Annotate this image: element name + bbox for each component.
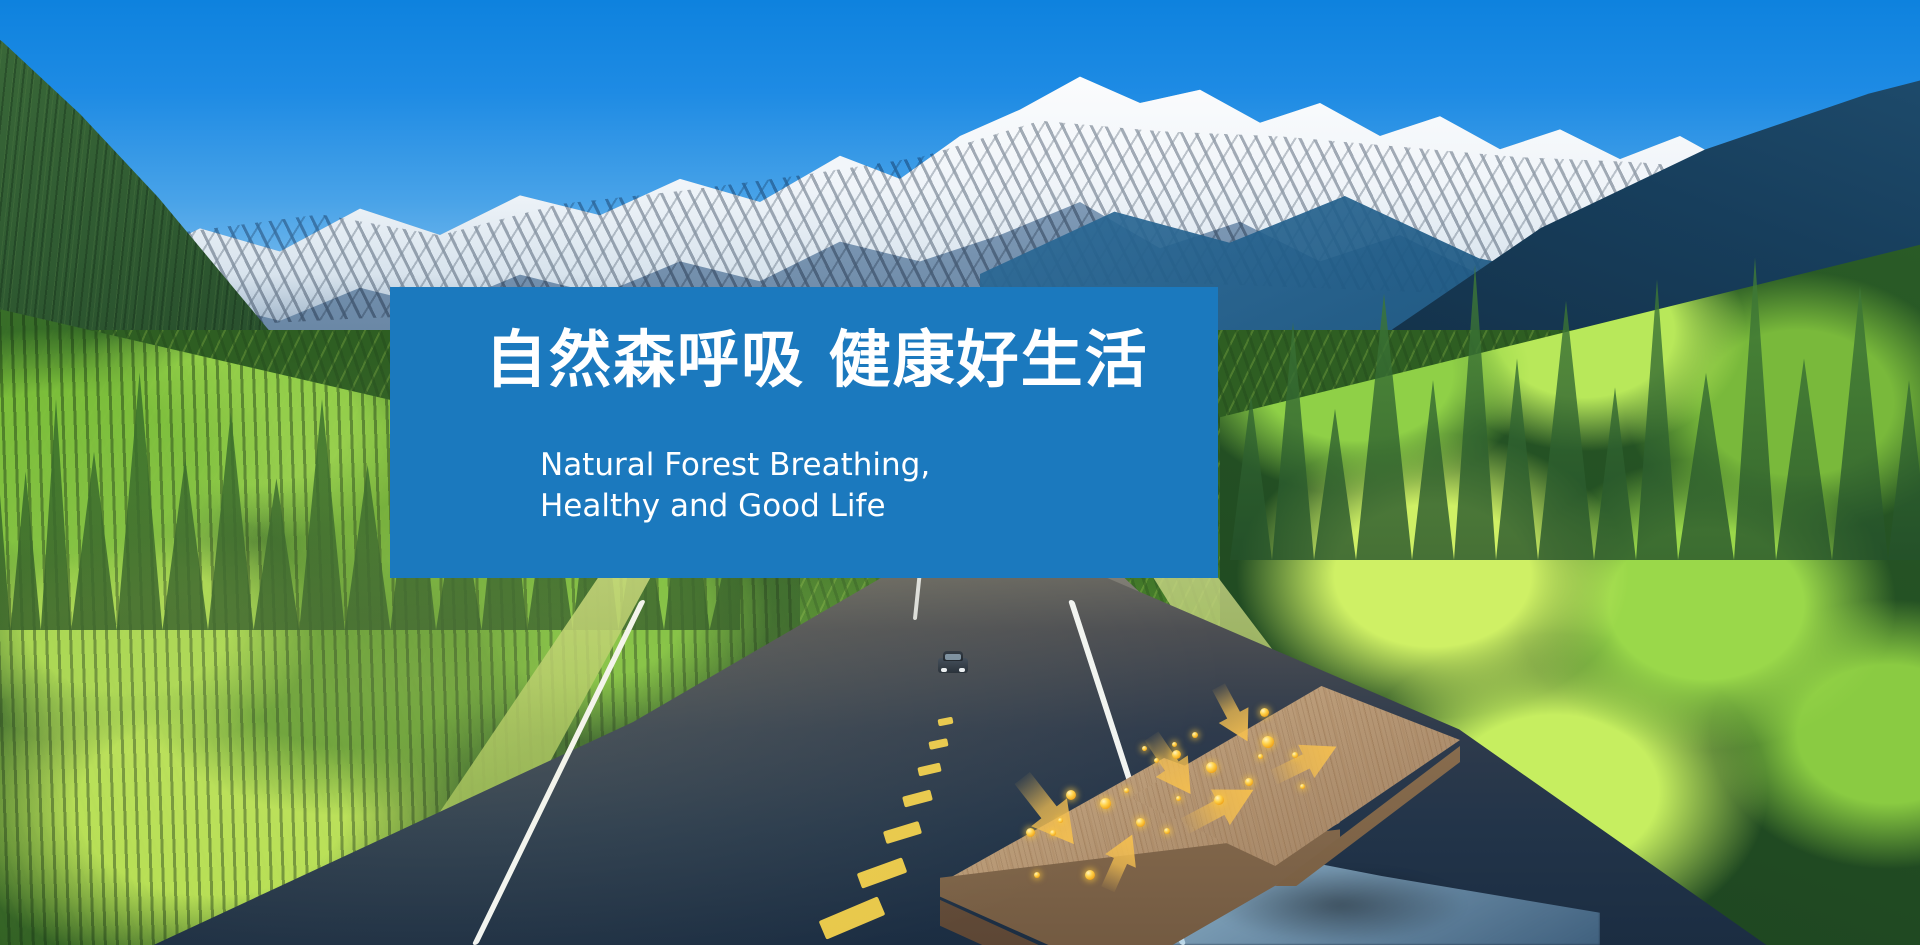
wood-flooring-composite (940, 680, 1500, 945)
air-particle (1142, 746, 1147, 751)
air-particle (1058, 818, 1063, 823)
air-particle (1124, 788, 1129, 793)
air-particle (1164, 828, 1170, 834)
air-particle (1206, 762, 1217, 773)
caption-panel: 自然森呼吸 健康好生活 Natural Forest Breathing, He… (390, 287, 1218, 578)
car-on-road (938, 651, 968, 675)
air-particle (1034, 872, 1040, 878)
air-particle (1258, 754, 1263, 759)
air-particle (1245, 778, 1253, 786)
air-particle (1136, 818, 1145, 827)
air-particle (1214, 795, 1224, 805)
air-particle (1100, 798, 1111, 809)
page-title: 自然森呼吸 健康好生活 (485, 325, 1149, 394)
air-particle (1172, 750, 1181, 759)
car-headlight-left (941, 668, 947, 672)
air-particle (1192, 732, 1198, 738)
air-particle (1154, 758, 1159, 763)
air-particle (1085, 870, 1095, 880)
air-particle (1292, 752, 1298, 758)
air-particle (1066, 790, 1076, 800)
banner-hero: 自然森呼吸 健康好生活 Natural Forest Breathing, He… (0, 0, 1920, 945)
air-particle (1026, 828, 1035, 837)
air-particle (1176, 796, 1181, 801)
air-particle (1300, 784, 1305, 789)
subtitle-line-2: Healthy and Good Life (540, 486, 930, 527)
air-particle (1260, 708, 1269, 717)
subtitle-block: Natural Forest Breathing, Healthy and Go… (540, 445, 930, 527)
air-particle (1050, 830, 1056, 836)
subtitle-line-1: Natural Forest Breathing, (540, 445, 930, 486)
air-particle (1262, 736, 1274, 748)
air-particle (1172, 742, 1177, 747)
car-headlight-right (959, 668, 965, 672)
car-windshield (945, 654, 961, 660)
